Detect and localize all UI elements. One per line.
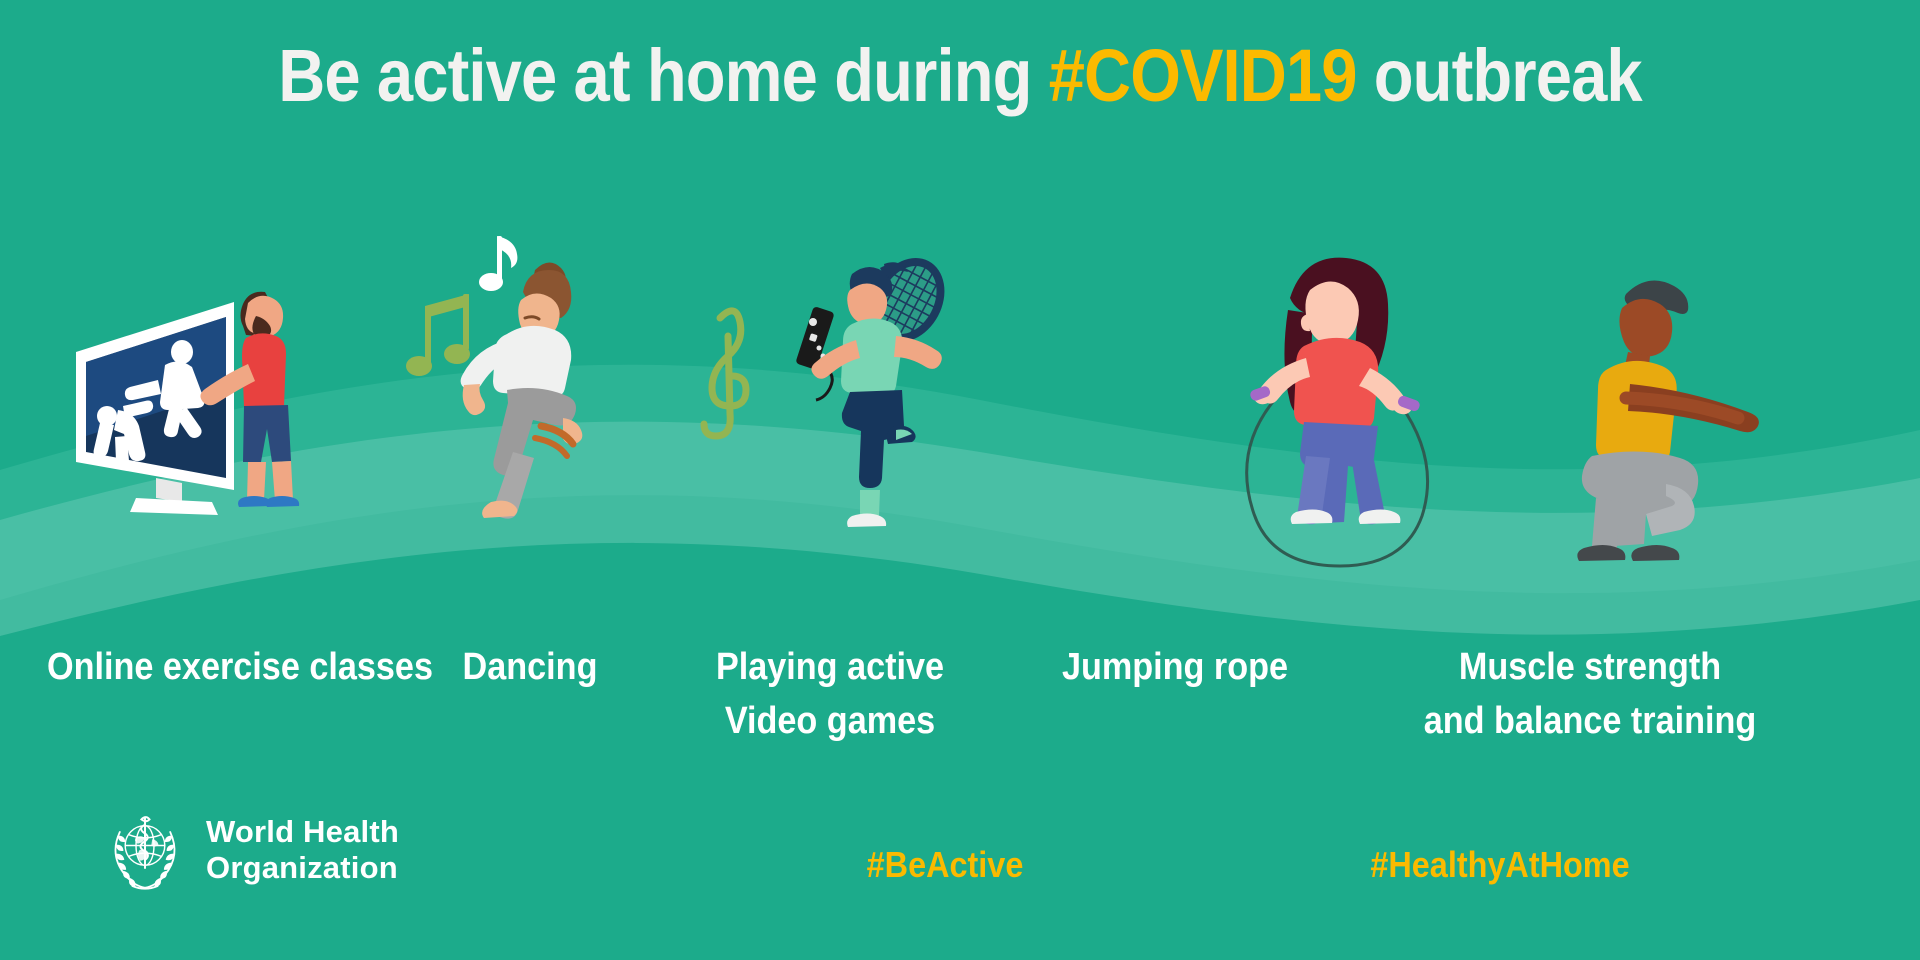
caption-line: Jumping rope xyxy=(1027,640,1324,694)
caption-line: and balance training xyxy=(1356,694,1824,748)
illustration-online-exercise-classes xyxy=(70,240,330,540)
music-note-icon xyxy=(406,294,470,376)
title-part-1: Be active at home during xyxy=(278,34,1048,117)
person-doing-squat xyxy=(1577,281,1759,561)
poster-root: Be active at home during #COVID19 outbre… xyxy=(0,0,1920,960)
caption-jumping-rope: Jumping rope xyxy=(1027,640,1324,694)
treble-clef-icon xyxy=(704,311,746,436)
illustration-playing-active-video-games xyxy=(680,240,960,570)
footer: World Health Organization #BeActive #Hea… xyxy=(0,800,1920,930)
caption-online-exercise-classes: Online exercise classes xyxy=(24,640,456,694)
hashtag-healthy-at-home[interactable]: #HealthyAtHome xyxy=(1167,844,1833,886)
title-part-2: outbreak xyxy=(1357,34,1642,117)
music-note-white-icon xyxy=(479,236,517,291)
caption-line: Video games xyxy=(677,694,983,748)
who-name-line-2: Organization xyxy=(206,850,399,886)
caption-muscle-strength-and-balance-training: Muscle strength and balance training xyxy=(1356,640,1824,748)
person-jumping-rope xyxy=(1249,258,1421,525)
who-name-line-1: World Health xyxy=(206,814,399,850)
who-logo: World Health Organization xyxy=(100,805,399,895)
caption-row: Online exercise classes Dancing Playing … xyxy=(0,640,1920,770)
hashtag-be-active[interactable]: #BeActive xyxy=(779,844,1112,886)
illustration-jumping-rope xyxy=(1230,240,1500,580)
title-hashtag-covid19: #COVID19 xyxy=(1049,34,1357,117)
person-dancing xyxy=(461,262,583,518)
caption-playing-active-video-games: Playing active Video games xyxy=(677,640,983,748)
caption-line: Dancing xyxy=(395,640,665,694)
illustration-band xyxy=(0,170,1920,600)
caption-line: Online exercise classes xyxy=(24,640,456,694)
caption-dancing: Dancing xyxy=(395,640,665,694)
tv-screen-icon xyxy=(76,302,234,515)
who-logo-wordmark: World Health Organization xyxy=(206,814,399,886)
page-title: Be active at home during #COVID19 outbre… xyxy=(115,36,1805,116)
who-emblem-icon xyxy=(100,805,190,895)
caption-line: Playing active xyxy=(677,640,983,694)
illustration-muscle-strength-and-balance-training xyxy=(1570,260,1870,580)
caption-line: Muscle strength xyxy=(1356,640,1824,694)
illustration-dancing xyxy=(395,230,645,560)
